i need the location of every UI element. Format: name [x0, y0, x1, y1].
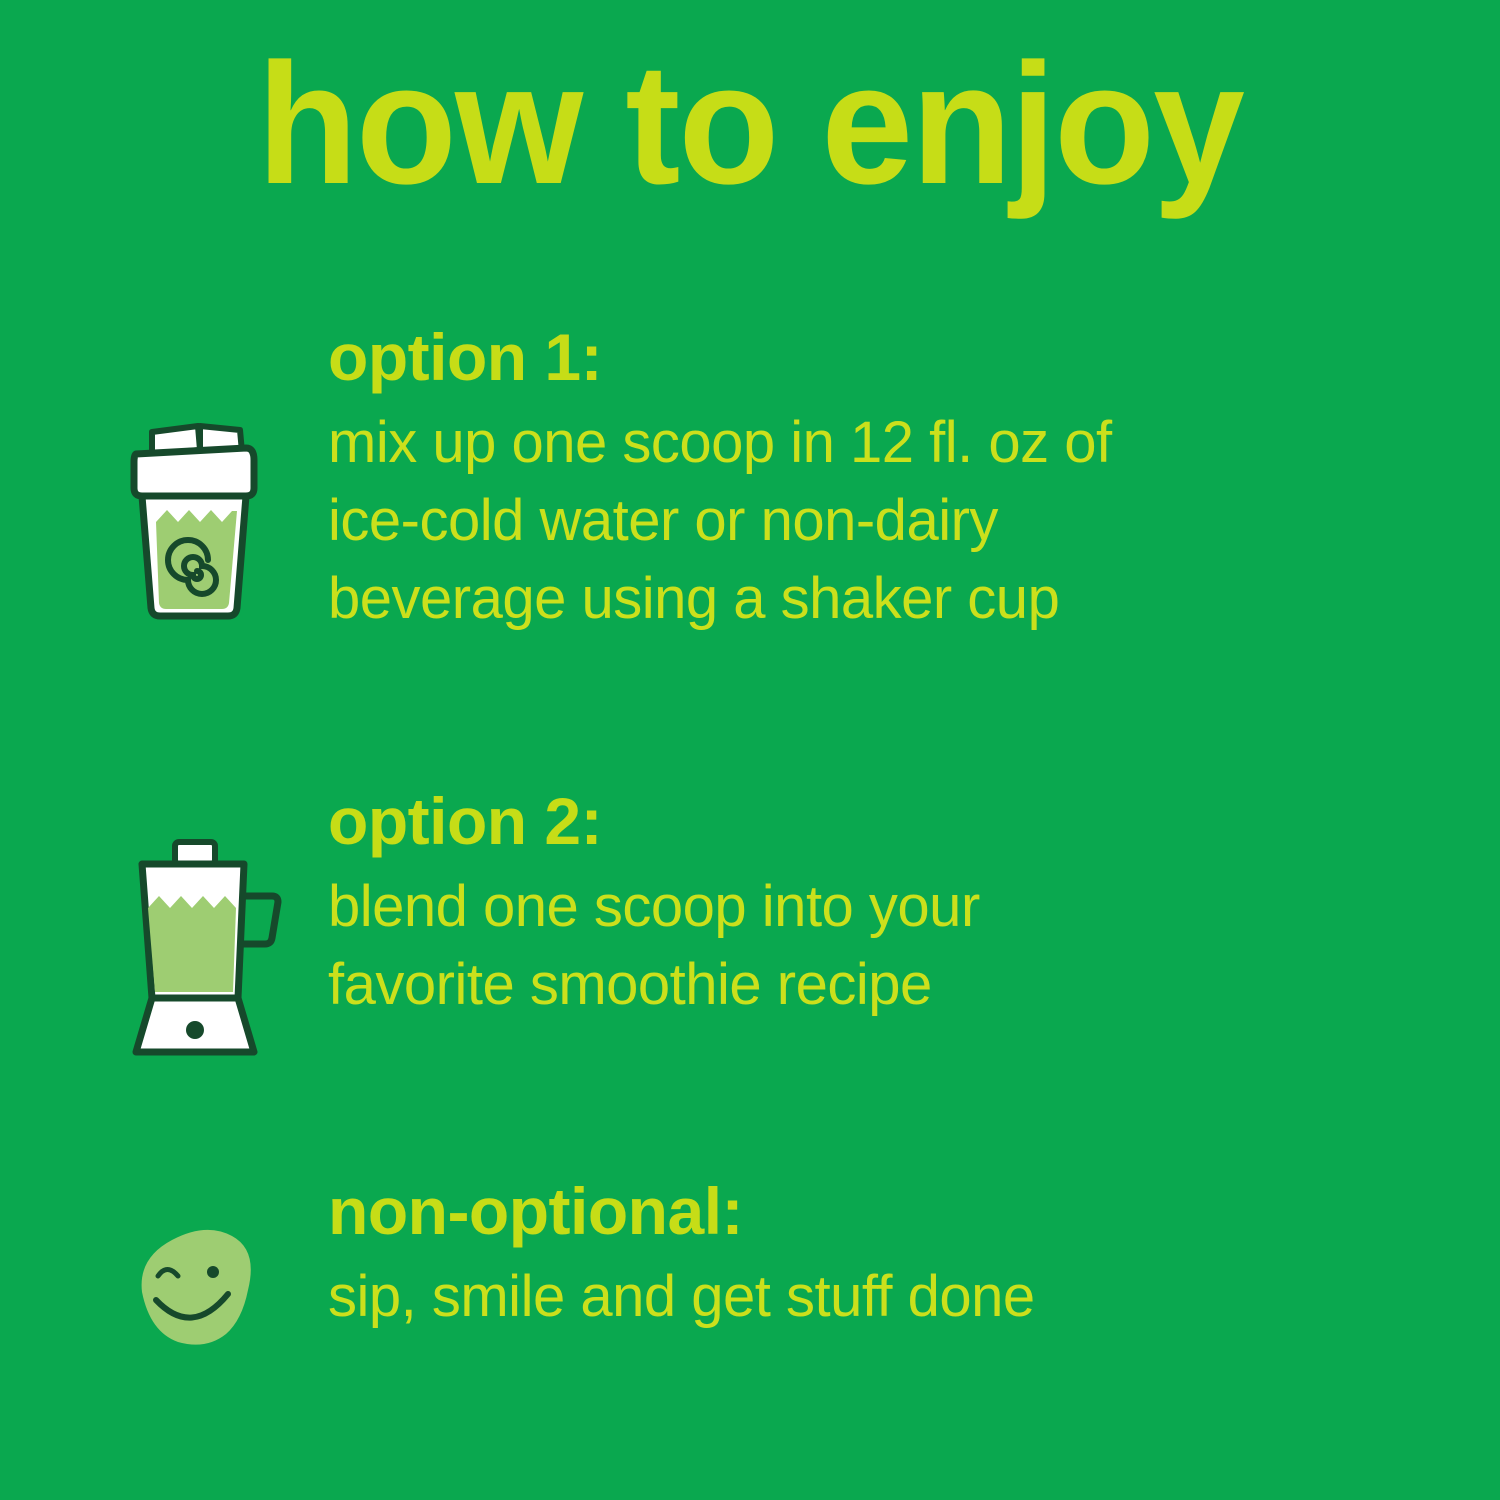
how-to-enjoy-poster: how to enjoy option 1:: [0, 0, 1500, 1500]
non-optional-body: sip, smile and get stuff done: [328, 1258, 1448, 1336]
page-title: how to enjoy: [30, 38, 1470, 210]
option-2-text: option 2: blend one scoop into your favo…: [328, 782, 1448, 1024]
option-2-line-1: blend one scoop into your: [328, 868, 1448, 946]
non-optional-heading: non-optional:: [328, 1172, 1448, 1250]
option-2-heading: option 2:: [328, 782, 1448, 860]
non-optional-text: non-optional: sip, smile and get stuff d…: [328, 1172, 1448, 1336]
option-1-heading: option 1:: [328, 318, 1448, 396]
option-2-body: blend one scoop into your favorite smoot…: [328, 868, 1448, 1024]
option-1-body: mix up one scoop in 12 fl. oz of ice-col…: [328, 404, 1448, 638]
option-1-text: option 1: mix up one scoop in 12 fl. oz …: [328, 318, 1448, 638]
option-1-line-1: mix up one scoop in 12 fl. oz of: [328, 404, 1448, 482]
non-optional-line-1: sip, smile and get stuff done: [328, 1258, 1448, 1336]
option-1-line-2: ice-cold water or non-dairy: [328, 482, 1448, 560]
blender-icon: [120, 830, 310, 1060]
option-2-line-2: favorite smoothie recipe: [328, 946, 1448, 1024]
shaker-cup-icon: [120, 410, 310, 640]
option-1-line-3: beverage using a shaker cup: [328, 560, 1448, 638]
smiley-face-icon: [120, 1214, 310, 1444]
